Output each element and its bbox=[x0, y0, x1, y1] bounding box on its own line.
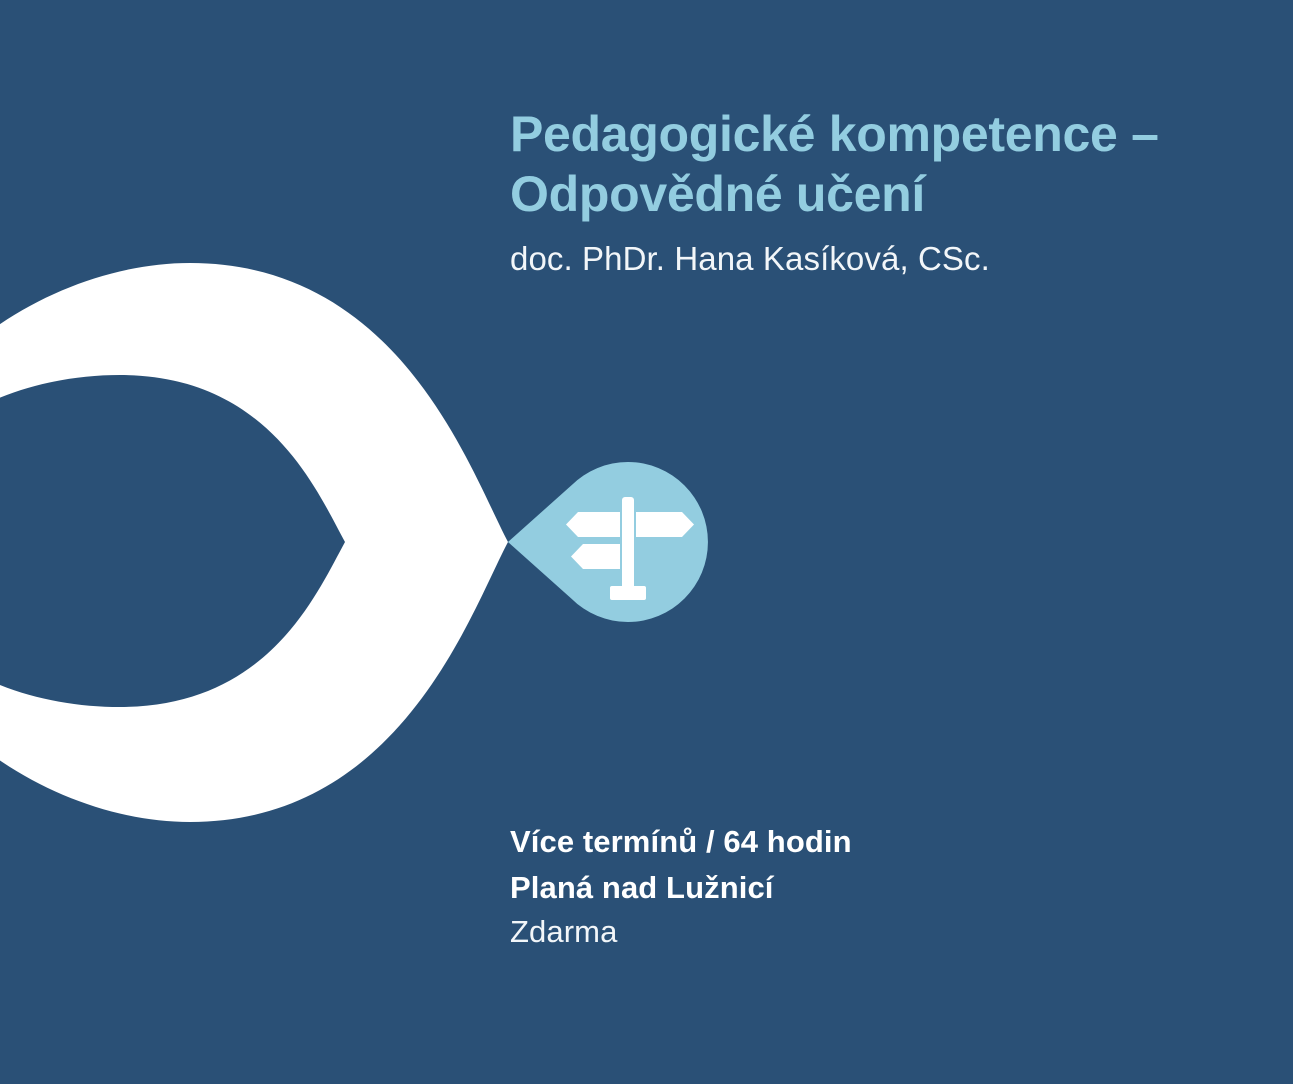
course-meta-block: Více termínů / 64 hodin Planá nad Lužnic… bbox=[510, 818, 1210, 953]
course-location: Planá nad Lužnicí bbox=[510, 866, 1210, 911]
course-lecturer: doc. PhDr. Hana Kasíková, CSc. bbox=[510, 238, 1250, 279]
infinity-leaf-logo-icon bbox=[0, 263, 508, 822]
title-block: Pedagogické kompetence – Odpovědné učení… bbox=[510, 104, 1250, 279]
course-term-and-hours: Více termínů / 64 hodin bbox=[510, 818, 1210, 866]
course-price: Zdarma bbox=[510, 911, 1210, 953]
course-title: Pedagogické kompetence – Odpovědné učení bbox=[510, 104, 1240, 224]
course-poster: Pedagogické kompetence – Odpovědné učení… bbox=[0, 0, 1293, 1084]
poster-text-column: Pedagogické kompetence – Odpovědné učení… bbox=[510, 0, 1270, 1084]
